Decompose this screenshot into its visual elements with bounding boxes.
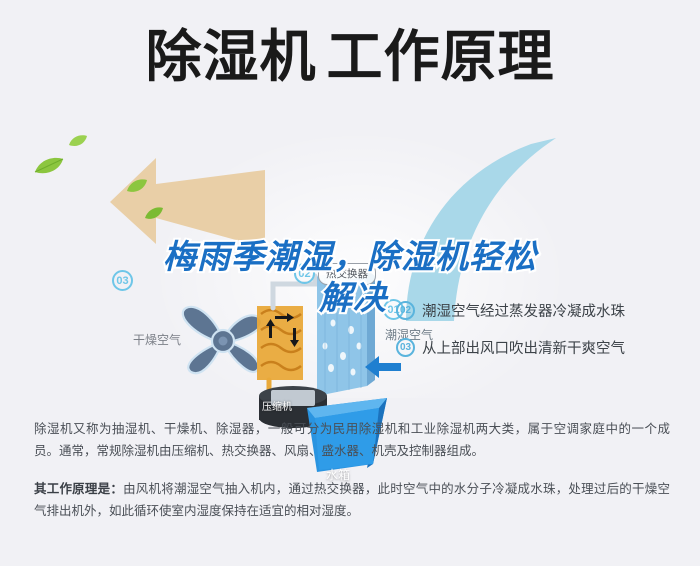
dry-airflow-arrow-icon — [60, 148, 270, 268]
body-copy: 除湿机又称为抽湿机、干燥机、除湿器，一般可分为民用除湿机和工业除湿机两大类，属于… — [34, 418, 670, 538]
step-text-02: 潮湿空气经过蒸发器冷凝成水珠 — [422, 300, 625, 321]
label-compressor: 压缩机 — [262, 398, 292, 413]
paragraph-principle-lead: 其工作原理是： — [34, 482, 123, 496]
paragraph-principle-rest: 由风机将潮湿空气抽入机内，通过热交换器，此时空气中的水分子冷凝成水珠，处理过后的… — [34, 482, 670, 518]
paragraph-principle: 其工作原理是：由风机将潮湿空气抽入机内，通过热交换器，此时空气中的水分子冷凝成水… — [34, 478, 670, 522]
dehumidifier-infographic: 除湿机工作原理 — [0, 0, 700, 566]
label-dry-air: 干燥空气 — [133, 331, 181, 348]
list-item: 03 从上部出风口吹出清新干爽空气 — [396, 337, 696, 358]
list-item: 02 潮湿空气经过蒸发器冷凝成水珠 — [396, 300, 696, 321]
page-title-part2: 工作原理 — [327, 25, 555, 88]
page-title-part1: 除湿机 — [146, 25, 317, 88]
step-badge-02: 02 — [396, 301, 415, 320]
heat-exchanger-callout: 热交换器 — [318, 263, 376, 285]
diagram-badge-03: 03 — [112, 270, 133, 291]
paragraph-definition: 除湿机又称为抽湿机、干燥机、除湿器，一般可分为民用除湿机和工业除湿机两大类，属于… — [34, 418, 670, 462]
condenser-coil — [257, 306, 303, 380]
steps-list: 02 潮湿空气经过蒸发器冷凝成水珠 03 从上部出风口吹出清新干爽空气 — [396, 300, 696, 374]
diagram-badge-02: 02 — [294, 263, 315, 284]
leaf-icon — [34, 156, 64, 176]
humid-airflow-arrow-icon — [396, 136, 626, 326]
leaf-icon — [68, 134, 88, 148]
step-badge-03: 03 — [396, 338, 415, 357]
leaf-icon — [126, 178, 148, 194]
step-text-03: 从上部出风口吹出清新干爽空气 — [422, 337, 625, 358]
page-title: 除湿机工作原理 — [0, 26, 700, 88]
leaf-icon — [144, 206, 164, 221]
